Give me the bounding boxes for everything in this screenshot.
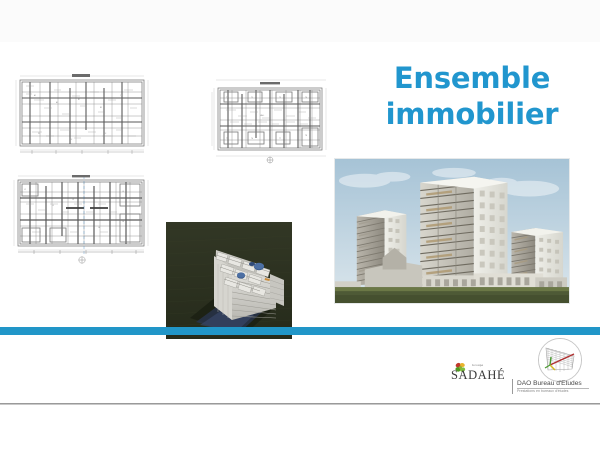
- blueprint-drawing-3: L1L2 L3L4 L5L6: [10, 170, 153, 268]
- title-line-2: immobilier: [352, 96, 592, 132]
- tower-centre: [420, 177, 507, 289]
- photo-render-image: [335, 159, 569, 303]
- below-slide-area: [0, 405, 600, 460]
- svg-text:T4: T4: [305, 97, 307, 99]
- dao-wireframe-icon: [539, 339, 581, 381]
- figure-floor-plan-top-left: A1A2 B1B2 C1D1 D2D3: [12, 70, 152, 158]
- svg-text:T8: T8: [305, 135, 307, 137]
- svg-text:T6: T6: [251, 138, 253, 140]
- dao-subtitle: Prestations en bureaux d'études: [517, 389, 595, 393]
- figure-floor-plan-top-right: T1T2 T3T4 T5T6 T7T8 HALL: [208, 66, 334, 170]
- svg-text:L3: L3: [72, 199, 74, 201]
- slide-canvas: Ensemble immobilier: [0, 42, 600, 403]
- dao-emblem: [538, 338, 582, 382]
- figure-floor-plan-bottom-left: L1L2 L3L4 L5L6: [10, 170, 153, 268]
- page-title: Ensemble immobilier: [352, 60, 592, 133]
- svg-text:T3: T3: [279, 97, 281, 99]
- svg-text:B1: B1: [78, 99, 80, 101]
- figure-photo-render: [334, 158, 570, 304]
- dao-title: DAO Bureau d'Etudes: [517, 380, 595, 387]
- dao-bracket: [512, 379, 513, 394]
- svg-text:T2: T2: [251, 97, 253, 99]
- svg-text:B2: B2: [100, 107, 102, 109]
- svg-text:L5: L5: [122, 191, 124, 193]
- logo-sadahe: Groupe SADAHÉ: [450, 362, 514, 390]
- blueprint-drawing-1: A1A2 B1B2 C1D1 D2D3: [12, 70, 152, 158]
- top-band: [0, 0, 600, 42]
- svg-text:L6: L6: [122, 221, 124, 223]
- logo-group: Groupe SADAHÉ: [448, 338, 594, 400]
- accent-bar: [0, 327, 600, 335]
- svg-text:T1: T1: [226, 97, 228, 99]
- svg-text:L2: L2: [52, 205, 54, 207]
- svg-text:HALL: HALL: [260, 114, 264, 117]
- svg-text:L1: L1: [24, 189, 26, 191]
- svg-text:D1: D1: [38, 133, 40, 135]
- svg-text:D2: D2: [70, 139, 72, 141]
- svg-text:L4: L4: [98, 227, 100, 229]
- svg-text:D3: D3: [104, 133, 106, 135]
- svg-text:T7: T7: [279, 138, 281, 140]
- svg-text:T5: T5: [226, 138, 228, 140]
- sadahe-groupe-label: Groupe: [472, 363, 483, 367]
- sadahe-name: SADAHÉ: [451, 368, 505, 383]
- logo-dao: DAO Bureau d'Etudes Prestations en burea…: [516, 338, 594, 396]
- slide-viewer: Ensemble immobilier: [0, 0, 600, 460]
- svg-text:C1: C1: [120, 95, 122, 97]
- figure-model-3d: [166, 222, 292, 339]
- blueprint-drawing-2: T1T2 T3T4 T5T6 T7T8 HALL: [208, 66, 334, 170]
- title-line-1: Ensemble: [394, 61, 550, 95]
- model-3d-render: [166, 222, 292, 339]
